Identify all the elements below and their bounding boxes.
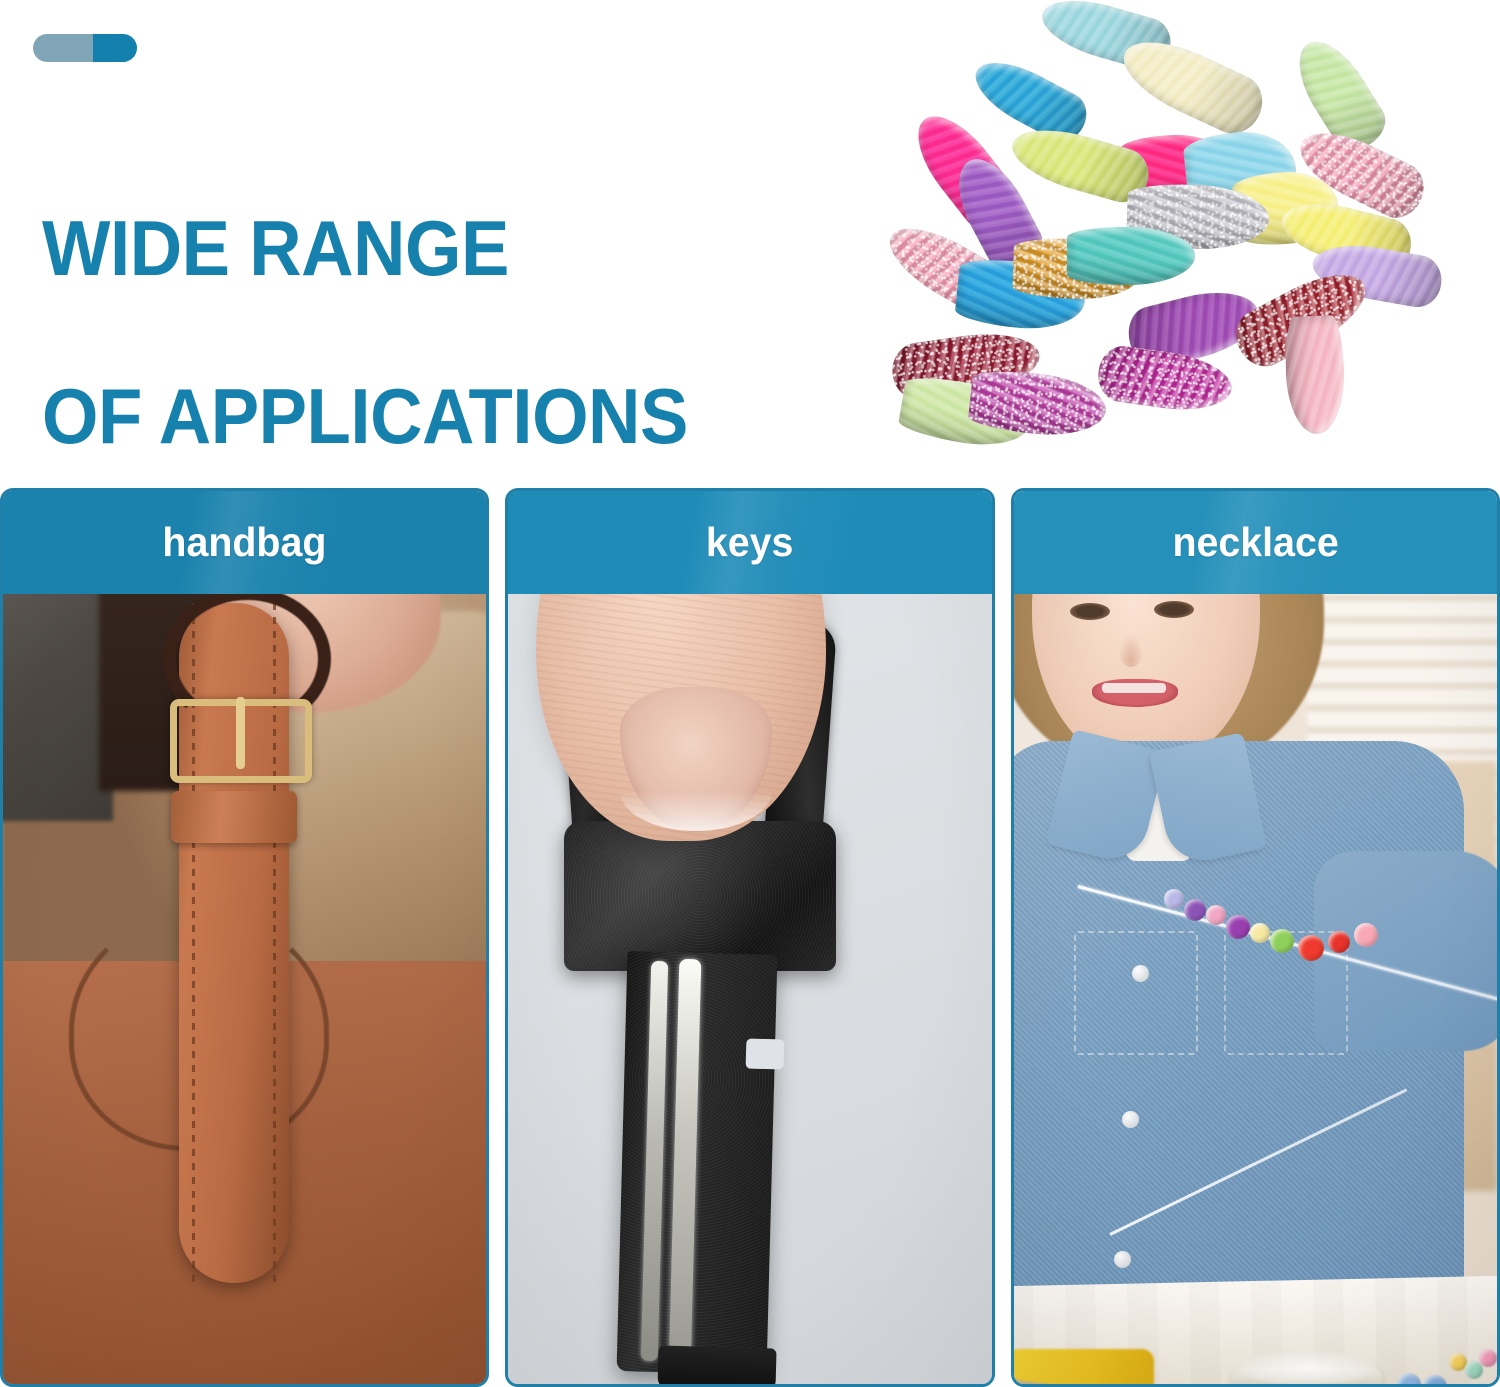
necklace-bead [1298, 935, 1324, 961]
necklace-bead [1354, 923, 1378, 947]
application-card-necklace[interactable]: necklace [1011, 488, 1500, 1387]
necklace-bead [1250, 923, 1270, 943]
headline-line-1: WIDE RANGE [42, 206, 805, 290]
card-label-handbag: handbag [163, 522, 327, 563]
unicorn-horn-bead [1095, 343, 1235, 417]
card-banner-necklace: necklace [1014, 491, 1497, 594]
necklace-bead [1226, 915, 1250, 939]
necklace-bead [1184, 899, 1206, 921]
keys-photo [508, 491, 991, 1384]
necklace-photo [1014, 491, 1497, 1384]
card-banner-keys: keys [508, 491, 991, 594]
necklace-bead [1164, 889, 1184, 909]
page-title: WIDE RANGE OF APPLICATIONS [42, 122, 805, 542]
headline-line-2: OF APPLICATIONS [42, 374, 805, 458]
hero-product-image [880, 0, 1500, 474]
table-beads [1379, 1345, 1489, 1384]
unicorn-horn-bead [1067, 227, 1195, 285]
table-bead [1479, 1349, 1497, 1367]
card-banner-handbag: handbag [3, 491, 486, 594]
unicorn-horn-bead [1284, 315, 1346, 435]
handbag-photo [3, 491, 486, 1384]
application-card-keys[interactable]: keys [505, 488, 994, 1387]
promo-banner-root: WIDE RANGE OF APPLICATIONS [0, 0, 1500, 1387]
table-bead [1423, 1375, 1447, 1384]
table-bead [1397, 1373, 1421, 1384]
card-label-keys: keys [706, 522, 794, 563]
toggle-pill-icon [33, 34, 137, 62]
toggle-pill-right-half [93, 34, 137, 62]
necklace-bead [1328, 931, 1350, 953]
unicorn-horn-bead [1112, 26, 1271, 143]
application-card-handbag[interactable]: handbag [0, 488, 489, 1387]
card-label-necklace: necklace [1172, 522, 1338, 563]
necklace-bead [1206, 905, 1226, 925]
application-cards-row: handbag keys [0, 488, 1500, 1387]
toggle-pill-left-half [33, 34, 93, 62]
necklace-bead [1270, 929, 1294, 953]
